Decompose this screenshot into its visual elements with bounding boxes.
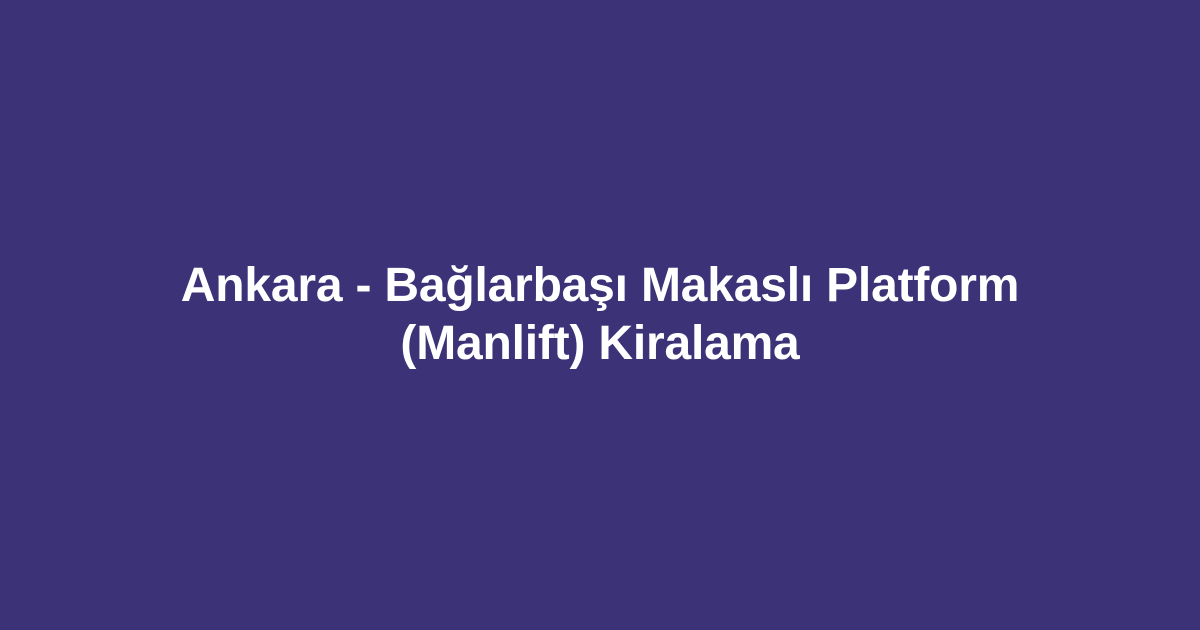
title-block: Ankara - Bağlarbaşı Makaslı Platform (Ma… <box>130 257 1070 373</box>
page-title: Ankara - Bağlarbaşı Makaslı Platform (Ma… <box>138 257 1062 373</box>
share-card-canvas: Ankara - Bağlarbaşı Makaslı Platform (Ma… <box>0 0 1200 630</box>
